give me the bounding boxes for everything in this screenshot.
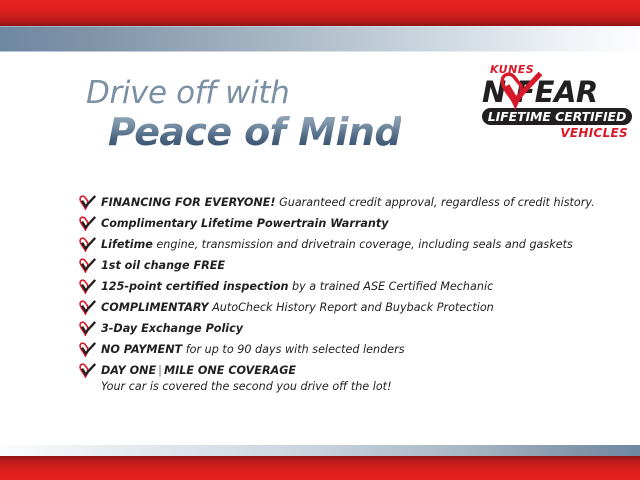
logo-wordmark: N FEAR — [482, 77, 632, 107]
logo-bar-label: LIFETIME CERTIFIED — [488, 110, 626, 123]
heart-check-bullet-icon — [79, 300, 96, 315]
feature-text: 125-point certified inspection by a trai… — [101, 277, 493, 294]
feature-item: Complimentary Lifetime Powertrain Warran… — [79, 214, 599, 235]
feature-bold: 3-Day Exchange Policy — [101, 322, 243, 335]
top-red-band — [0, 0, 640, 26]
kunes-no-fear-banner: Drive off with Peace of Mind KUNES N FEA… — [0, 0, 640, 480]
feature-list: FINANCING FOR EVERYONE! Guaranteed credi… — [79, 193, 599, 394]
feature-subtext: Your car is covered the second you drive… — [101, 378, 392, 394]
heart-check-bullet-icon — [79, 321, 96, 336]
feature-item: NO PAYMENT for up to 90 days with select… — [79, 340, 599, 361]
feature-text: 1st oil change FREE — [101, 256, 225, 273]
feature-rest: for up to 90 days with selected lenders — [182, 343, 404, 356]
heart-check-bullet-icon — [79, 216, 96, 231]
feature-item-day-one: DAY ONE|MILE ONE COVERAGE Your car is co… — [79, 361, 599, 394]
bottom-gray-band — [0, 445, 640, 456]
feature-rest: by a trained ASE Certified Mechanic — [288, 280, 493, 293]
feature-rest: Guaranteed credit approval, regardless o… — [276, 196, 595, 209]
heart-check-bullet-icon — [79, 195, 96, 210]
feature-separator: | — [156, 364, 164, 377]
feature-bold: FINANCING FOR EVERYONE! — [101, 196, 276, 209]
red-check-heart-icon — [499, 72, 543, 110]
feature-bold: NO PAYMENT — [101, 343, 182, 356]
headline-line-1: Drive off with — [86, 76, 401, 110]
feature-text: COMPLIMENTARY AutoCheck History Report a… — [101, 298, 494, 315]
feature-item: Lifetime engine, transmission and drivet… — [79, 235, 599, 256]
logo-vehicles-label: VEHICLES — [482, 127, 628, 140]
bottom-red-band — [0, 456, 640, 480]
feature-bold: COMPLIMENTARY — [101, 301, 209, 314]
feature-item: FINANCING FOR EVERYONE! Guaranteed credi… — [79, 193, 599, 214]
feature-text: Complimentary Lifetime Powertrain Warran… — [101, 214, 389, 231]
feature-item: 125-point certified inspection by a trai… — [79, 277, 599, 298]
feature-text: FINANCING FOR EVERYONE! Guaranteed credi… — [101, 193, 595, 210]
feature-item: 3-Day Exchange Policy — [79, 319, 599, 340]
heart-check-bullet-icon — [79, 363, 96, 378]
heart-check-bullet-icon — [79, 237, 96, 252]
feature-item: 1st oil change FREE — [79, 256, 599, 277]
feature-text: 3-Day Exchange Policy — [101, 319, 243, 336]
feature-bold: Complimentary Lifetime Powertrain Warran… — [101, 217, 389, 230]
feature-bold-left: DAY ONE — [101, 364, 156, 377]
feature-text: NO PAYMENT for up to 90 days with select… — [101, 340, 405, 357]
headline: Drive off with Peace of Mind — [86, 76, 401, 153]
kunes-no-fear-logo: KUNES N FEAR LIFETIME CERTIFIED VEHICLES — [482, 64, 632, 140]
headline-line-2: Peace of Mind — [108, 111, 401, 153]
top-gray-band — [0, 26, 640, 52]
feature-bold-right: MILE ONE COVERAGE — [164, 364, 296, 377]
heart-check-bullet-icon — [79, 258, 96, 273]
feature-bold: 1st oil change FREE — [101, 259, 225, 272]
feature-bold: Lifetime — [101, 238, 153, 251]
heart-check-bullet-icon — [79, 342, 96, 357]
heart-check-bullet-icon — [79, 279, 96, 294]
feature-rest: AutoCheck History Report and Buyback Pro… — [209, 301, 494, 314]
feature-bold: 125-point certified inspection — [101, 280, 288, 293]
feature-text: Lifetime engine, transmission and drivet… — [101, 235, 573, 252]
feature-rest: engine, transmission and drivetrain cove… — [153, 238, 573, 251]
logo-lifetime-certified-bar: LIFETIME CERTIFIED — [482, 108, 632, 125]
feature-item: COMPLIMENTARY AutoCheck History Report a… — [79, 298, 599, 319]
feature-text: DAY ONE|MILE ONE COVERAGE — [101, 361, 392, 378]
